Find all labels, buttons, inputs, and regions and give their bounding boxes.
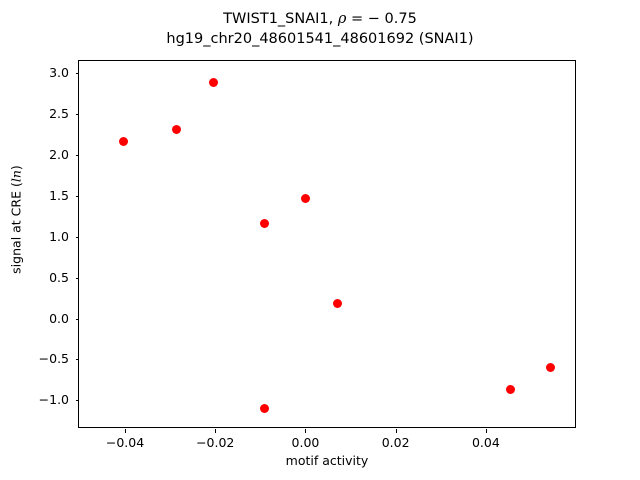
y-axis-tick (76, 359, 80, 360)
y-axis-tick (76, 196, 80, 197)
data-point (546, 363, 555, 372)
y-axis-tick-label: 0.0 (0, 310, 69, 328)
y-axis-label-suffix: ) (9, 165, 24, 170)
y-axis-label-prefix: signal at CRE ( (9, 182, 24, 274)
x-axis-tick-label: −0.04 (85, 435, 165, 450)
y-axis-tick (76, 319, 80, 320)
chart-title-suffix: = − 0.75 (346, 11, 416, 27)
y-axis-tick-label: 2.5 (0, 105, 69, 123)
y-axis-tick-label: 3.0 (0, 64, 69, 82)
y-axis-tick (76, 400, 80, 401)
x-axis-tick-label: 0.04 (446, 435, 526, 450)
y-axis-tick (76, 155, 80, 156)
y-axis-tick-label: −1.0 (0, 391, 69, 409)
data-point (301, 194, 310, 203)
data-point (119, 137, 128, 146)
y-axis-tick-label: −0.5 (0, 350, 69, 368)
plot-data-area (79, 61, 575, 427)
data-point (333, 299, 342, 308)
y-axis-tick (76, 237, 80, 238)
x-axis-tick (215, 429, 216, 433)
data-point (172, 125, 181, 134)
x-axis-label: motif activity (78, 453, 576, 468)
plot-axes: −0.04−0.020.000.020.04−1.0−0.50.00.51.01… (78, 60, 576, 428)
chart-title-line1: TWIST1_SNAI1, ρ = − 0.75 (0, 9, 640, 29)
data-point (209, 78, 218, 87)
y-axis-tick (76, 73, 80, 74)
x-axis-tick-label: −0.02 (175, 435, 255, 450)
x-axis-tick-label: 0.00 (265, 435, 345, 450)
data-point (260, 219, 269, 228)
y-axis-label-italic: ln (9, 170, 24, 182)
data-point (506, 385, 515, 394)
x-axis-tick (486, 429, 487, 433)
x-axis-tick-label: 0.02 (356, 435, 436, 450)
data-point (260, 404, 269, 413)
x-axis-tick (305, 429, 306, 433)
chart-title-prefix: TWIST1_SNAI1, (223, 11, 338, 27)
y-axis-tick (76, 114, 80, 115)
chart-subtitle: hg19_chr20_48601541_48601692 (SNAI1) (0, 29, 640, 49)
x-axis-tick (125, 429, 126, 433)
y-axis-label: signal at CRE (ln) (9, 140, 24, 300)
y-axis-tick (76, 278, 80, 279)
chart-title: TWIST1_SNAI1, ρ = − 0.75 hg19_chr20_4860… (0, 9, 640, 49)
scatter-plot-figure: TWIST1_SNAI1, ρ = − 0.75 hg19_chr20_4860… (0, 0, 640, 480)
x-axis-tick (396, 429, 397, 433)
